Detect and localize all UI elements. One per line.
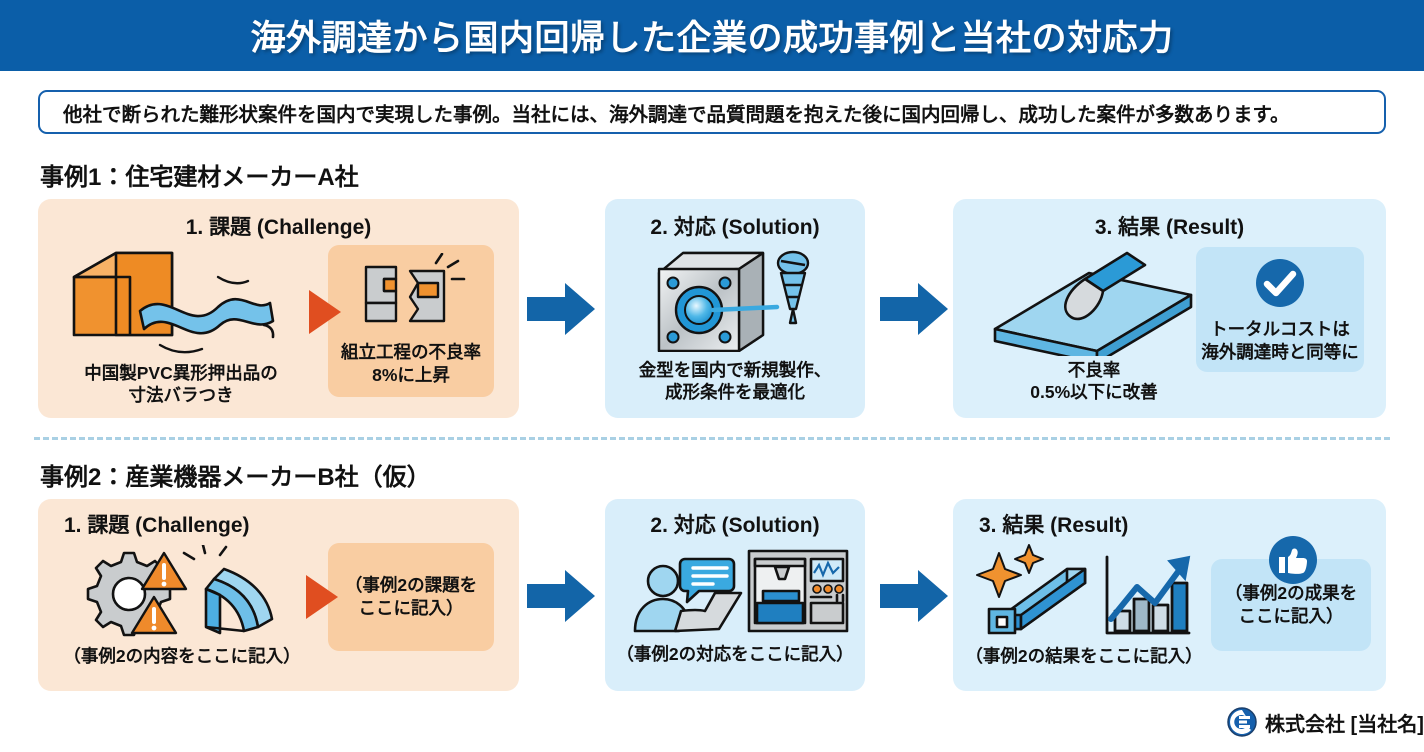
case1-arrow-solution-to-result-icon — [880, 281, 950, 337]
case2-challenge-highlight-text: （事例2の課題を ここに記入） — [345, 574, 477, 620]
case2-solution-title: 2. 対応 (Solution) — [605, 509, 865, 539]
case2-heading: 事例2：産業機器メーカーB社（仮） — [40, 457, 431, 492]
screw-icon — [778, 252, 808, 323]
case1-result-title: 3. 結果 (Result) — [953, 211, 1386, 241]
mold-die-icon — [653, 247, 823, 352]
case1-inner-arrow-icon — [307, 288, 343, 336]
case1-challenge-highlight-box: 組立工程の不良率 8%に上昇 — [328, 245, 494, 397]
section-divider — [34, 437, 1390, 440]
case1-solution-caption: 金型を国内で新規製作、 成形条件を最適化 — [613, 359, 857, 403]
case2-result-highlight-text: （事例2の成果を ここに記入） — [1225, 582, 1357, 628]
case1-challenge-caption: 中国製PVC異形押出品の 寸法バラつき — [56, 362, 306, 406]
subtitle-box: 他社で断られた難形状案件を国内で実現した事例。当社には、海外調達で品質問題を抱え… — [38, 90, 1386, 134]
case1-result-highlight-text: トータルコストは 海外調達時と同等に — [1201, 318, 1359, 364]
case2-challenge-title: 1. 課題 (Challenge) — [38, 509, 519, 539]
case2-solution-panel: 2. 対応 (Solution) — [605, 499, 865, 691]
case1-solution-title: 2. 対応 (Solution) — [605, 211, 865, 241]
case1-heading: 事例1：住宅建材メーカーA社 — [40, 157, 359, 192]
engineer-consult-icon — [625, 545, 851, 635]
case2-result-title: 3. 結果 (Result) — [953, 509, 1386, 539]
company-logo-icon — [1227, 707, 1257, 737]
case2-challenge-caption: （事例2の内容をここに記入） — [52, 645, 312, 667]
case1-result-panel: 3. 結果 (Result) 不良率 0.5%以下に改善 トータルコストは 海外… — [953, 199, 1386, 418]
gear-warning-icon — [74, 545, 289, 643]
case1-challenge-highlight-text: 組立工程の不良率 8%に上昇 — [341, 341, 481, 387]
infographic-page: 海外調達から国内回帰した企業の成功事例と当社の対応力 他社で断られた難形状案件を… — [0, 0, 1424, 752]
sparkle-icon — [977, 545, 1043, 597]
page-title: 海外調達から国内回帰した企業の成功事例と当社の対応力 — [250, 10, 1173, 61]
bent-profile-icon — [206, 569, 272, 633]
case2-challenge-panel: 1. 課題 (Challenge) — [38, 499, 519, 691]
case1-result-highlight-box: トータルコストは 海外調達時と同等に — [1196, 247, 1364, 372]
cracked-joint-icon — [358, 253, 468, 335]
footer-logo: 株式会社 [当社名] — [1227, 707, 1424, 737]
case1-challenge-title: 1. 課題 (Challenge) — [38, 211, 519, 241]
flat-panel-blade-icon — [985, 251, 1200, 356]
case2-result-panel: 3. 結果 (Result) — [953, 499, 1386, 691]
thumbs-up-icon — [1268, 535, 1318, 585]
company-name: 株式会社 [当社名] — [1265, 708, 1424, 737]
case1-arrow-challenge-to-solution-icon — [527, 281, 597, 337]
header-bar: 海外調達から国内回帰した企業の成功事例と当社の対応力 — [0, 0, 1424, 71]
case2-inner-arrow-icon — [304, 573, 340, 621]
case1-result-caption: 不良率 0.5%以下に改善 — [979, 359, 1209, 403]
subtitle-text: 他社で断られた難形状案件を国内で実現した事例。当社には、海外調達で品質問題を抱え… — [63, 98, 1290, 127]
case2-challenge-highlight-box: （事例2の課題を ここに記入） — [328, 543, 494, 651]
check-circle-icon — [1254, 257, 1306, 309]
case2-result-caption: （事例2の結果をここに記入） — [959, 645, 1209, 667]
case2-arrow-solution-to-result-icon — [880, 568, 950, 624]
orange-box-icon — [68, 247, 283, 357]
case2-solution-caption: （事例2の対応をここに記入） — [605, 643, 865, 665]
shiny-beam-icon — [973, 543, 1199, 643]
case2-arrow-challenge-to-solution-icon — [527, 568, 597, 624]
case1-solution-panel: 2. 対応 (Solution) — [605, 199, 865, 418]
case1-challenge-panel: 1. 課題 (Challenge) 中国製PVC異形押出品の 寸法バラつき — [38, 199, 519, 418]
